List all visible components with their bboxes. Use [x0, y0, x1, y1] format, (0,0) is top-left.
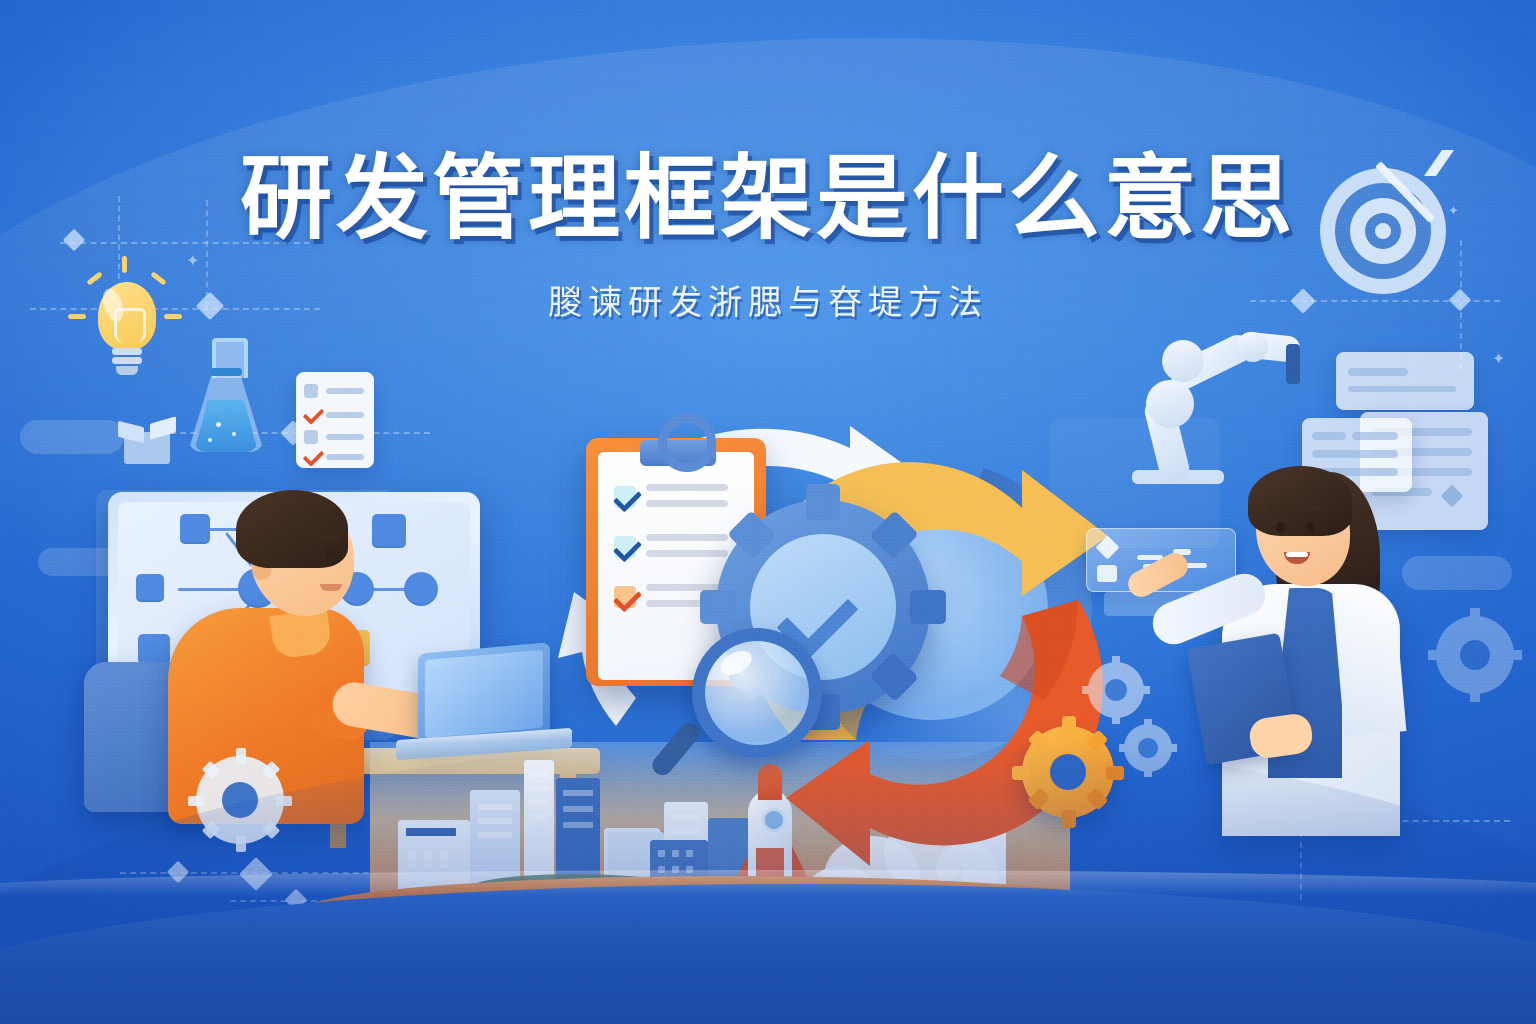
page-subtitle: 朡谏研发浙腮与昚堤方法 — [0, 275, 1536, 324]
page-title: 研发管理框架是什么意思 — [240, 150, 1296, 249]
title-block: 研发管理框架是什么意思 朡谏研发浙腮与昚堤方法 — [0, 150, 1536, 324]
poster-canvas: ✦ ✦ ✦ ✦ ✦ ✦ — [0, 0, 1536, 1024]
